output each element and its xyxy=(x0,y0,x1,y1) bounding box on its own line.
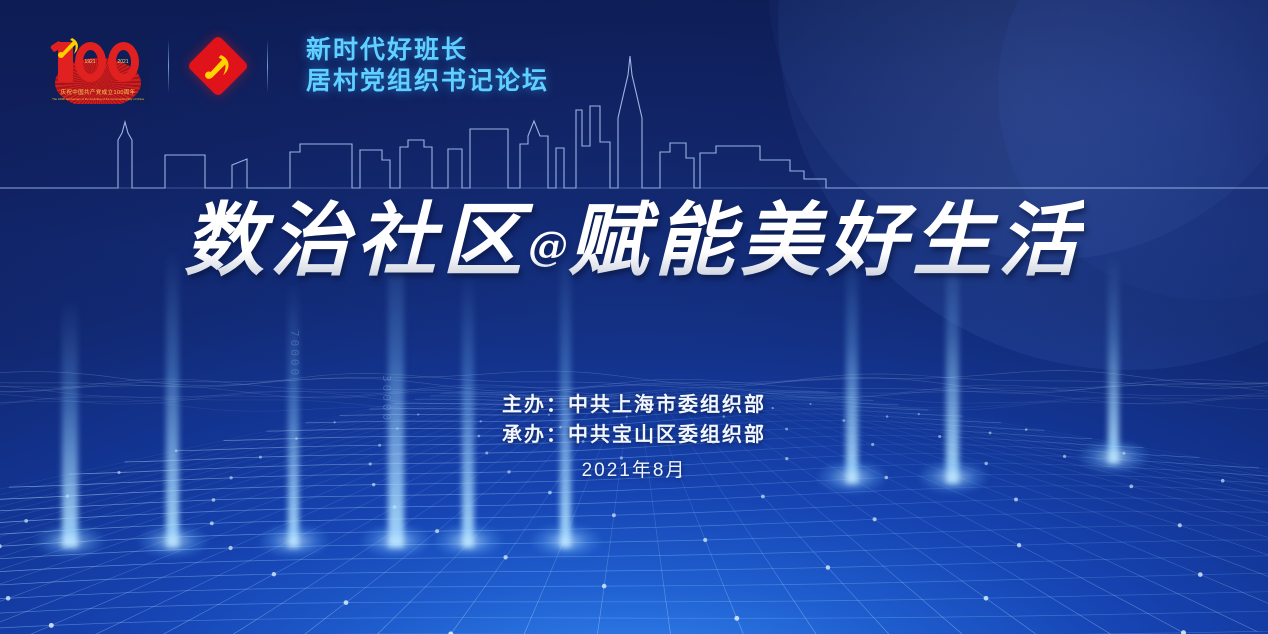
emblem-year-right: 2021 xyxy=(117,60,128,65)
hammer-sickle-icon xyxy=(56,35,82,59)
emblem-caption: 庆祝中国共产党成立100周年 The 100th Anniversary of … xyxy=(46,90,150,101)
at-symbol: @ xyxy=(528,223,568,270)
forum-title-line2: 居村党组织书记论坛 xyxy=(306,66,549,97)
forum-title-line1: 新时代好班长 xyxy=(306,35,549,66)
red-diamond-shape xyxy=(187,35,249,97)
party-emblem-badge xyxy=(187,35,249,97)
emblem-year-left: 1921 xyxy=(84,60,95,65)
main-title-part2: 赋能美好生活 xyxy=(568,193,1084,287)
main-title-block: 数治社区@赋能美好生活 xyxy=(0,192,1268,295)
digit-zero-right: 2021 xyxy=(108,42,139,82)
credits-block: 主办：中共上海市委组织部 承办：中共宝山区委组织部 2021年8月 xyxy=(0,390,1268,484)
event-date: 2021年8月 xyxy=(0,458,1268,484)
header-divider-left xyxy=(168,39,169,93)
header-lockup: 1921 2021 庆祝中国共产党成立100周年 The 100th Anniv… xyxy=(46,22,549,110)
main-title: 数治社区@赋能美好生活 xyxy=(184,192,1084,295)
emblem-caption-en: The 100th Anniversary of the Founding of… xyxy=(51,97,145,101)
hammer-and-sickle-icon xyxy=(203,52,233,80)
forum-title-block: 新时代好班长 居村党组织书记论坛 xyxy=(306,35,549,97)
main-title-part1: 数治社区 xyxy=(184,193,528,287)
poster-canvas: 1921 2021 庆祝中国共产党成立100周年 The 100th Anniv… xyxy=(0,0,1268,634)
emblem-caption-cn: 庆祝中国共产党成立100周年 xyxy=(50,90,146,96)
cpc-100th-anniversary-emblem: 1921 2021 庆祝中国共产党成立100周年 The 100th Anniv… xyxy=(46,28,150,104)
header-divider-right xyxy=(267,39,268,93)
host-line: 主办：中共上海市委组织部 xyxy=(0,390,1268,420)
organizer-line: 承办：中共宝山区委组织部 xyxy=(0,420,1268,450)
